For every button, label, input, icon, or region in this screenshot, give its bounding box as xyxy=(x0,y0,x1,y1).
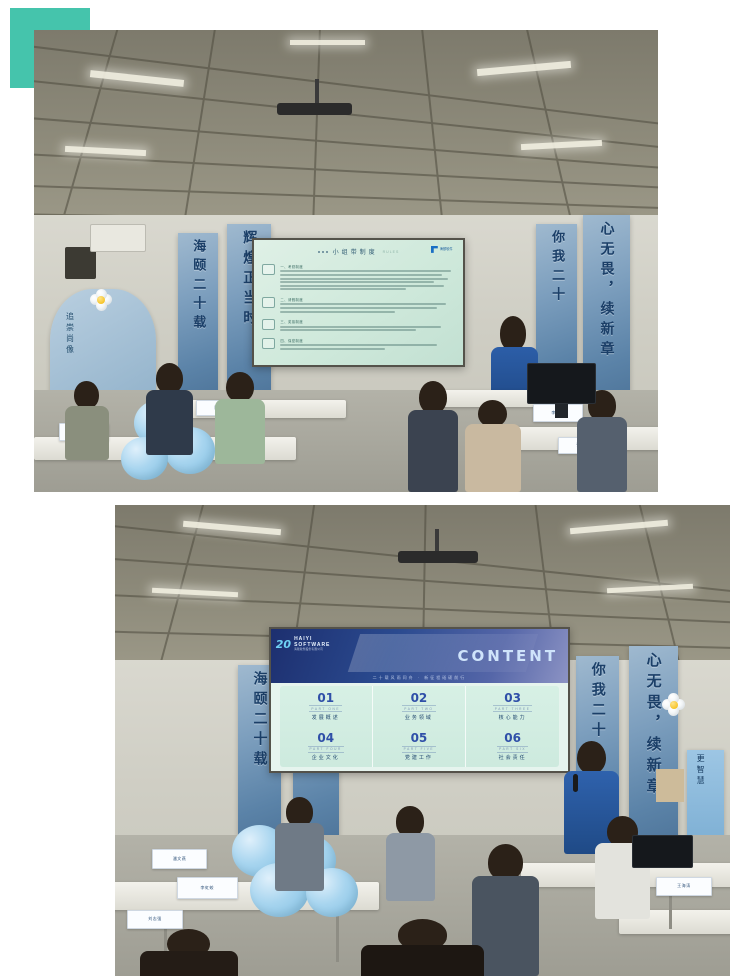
attendee xyxy=(65,381,109,460)
attendee-torso xyxy=(275,823,324,891)
photo-training-session-bottom: 海颐二十载 辉煌正当时 你我二十 心无畏，续新章 更智慧 20 xyxy=(115,505,730,976)
agenda-number: 03 xyxy=(504,692,521,704)
agenda-part-label: PART ONE xyxy=(309,705,342,712)
projector xyxy=(398,551,478,563)
attendee-torso xyxy=(215,399,265,465)
document-icon xyxy=(262,264,275,275)
projection-screen: 20 HAIYI SOFTWARE 海颐软件股份有限公司 CONTENT 二十载… xyxy=(269,627,570,773)
attendee xyxy=(146,363,193,455)
attendee xyxy=(275,797,324,891)
agenda-label: 核心能力 xyxy=(499,714,527,721)
projector xyxy=(277,103,352,115)
slide-content-agenda: 20 HAIYI SOFTWARE 海颐软件股份有限公司 CONTENT 二十载… xyxy=(271,629,568,771)
desk-leg xyxy=(336,910,339,962)
banner-text: 你我二十 xyxy=(550,230,563,306)
slide-block-lines: 三、奖惩制度 xyxy=(280,319,454,333)
agenda-number: 01 xyxy=(317,692,334,704)
agenda-label: 党建工作 xyxy=(405,754,433,761)
slide-block-lines: 二、请假制度 xyxy=(280,297,454,314)
attendee-torso xyxy=(65,406,109,459)
block-heading: 一、考勤制度 xyxy=(280,264,454,269)
banner-text: 你我二十 xyxy=(591,662,605,742)
agenda-label: 社会责任 xyxy=(499,754,527,761)
attendee-torso xyxy=(386,833,435,901)
air-conditioner xyxy=(90,224,146,252)
banner-text: 海颐二十载 xyxy=(191,239,204,334)
company-logo: 20 HAIYI SOFTWARE 海颐软件股份有限公司 xyxy=(276,636,331,651)
projector-mount xyxy=(315,79,319,103)
dots-decoration xyxy=(318,251,328,253)
attendee xyxy=(577,390,627,492)
agenda-number: 04 xyxy=(317,732,334,744)
wall-panel xyxy=(656,769,684,802)
slide-block: 一、考勤制度 xyxy=(262,264,454,292)
agenda-item: 05 PART FIVE 党建工作 xyxy=(373,727,466,767)
slide-block-lines: 一、考勤制度 xyxy=(280,264,454,292)
agenda-grid: 01 PART ONE 发展概述 02 PART TWO 业务领域 03 PAR… xyxy=(280,686,560,767)
agenda-part-label: PART FOUR xyxy=(308,746,344,753)
monitor-stand xyxy=(555,404,567,418)
agenda-item: 06 PART SIX 社会责任 xyxy=(466,727,559,767)
slide-block: 二、请假制度 xyxy=(262,297,454,314)
attendee-torso xyxy=(146,390,193,455)
attendee-torso xyxy=(140,951,238,976)
slide-logo: 海颐软件 xyxy=(431,246,453,253)
anniversary-20-icon: 20 xyxy=(276,639,291,650)
daisy-balloon xyxy=(662,693,686,717)
banner-text: 海颐二十载 xyxy=(253,671,267,771)
slide-title: 小组带制度 xyxy=(333,247,378,256)
photo-training-session-top: 海颐二十载 辉煌正当时 你我二十 心无畏，续新章 追崇尚像 小组带制度 RULE… xyxy=(34,30,658,492)
agenda-part-label: PART FIVE xyxy=(402,746,437,753)
daisy-balloon xyxy=(90,289,112,311)
agenda-label: 发展概述 xyxy=(312,714,340,721)
room-scene: 海颐二十载 辉煌正当时 你我二十 心无畏，续新章 更智慧 20 xyxy=(115,505,730,976)
agenda-item: 01 PART ONE 发展概述 xyxy=(280,686,373,726)
nameplate-text: 王海涛 xyxy=(677,883,691,889)
slide-document: 小组带制度 RULES 海颐软件 一、考勤制度 xyxy=(254,240,462,365)
agenda-item: 04 PART FOUR 企业文化 xyxy=(280,727,373,767)
agenda-part-label: PART TWO xyxy=(402,705,435,712)
slogan-text: 追崇尚像 xyxy=(50,289,76,356)
wall-speaker xyxy=(65,247,96,279)
attendee-torso xyxy=(577,417,627,492)
attendee xyxy=(140,929,238,976)
document-icon xyxy=(262,297,275,308)
agenda-number: 06 xyxy=(504,732,521,744)
projection-screen: 小组带制度 RULES 海颐软件 一、考勤制度 xyxy=(252,238,464,367)
attendee xyxy=(215,372,265,464)
nameplate-text: 潘文燕 xyxy=(173,856,187,862)
company-logo-text: 海颐软件 xyxy=(440,248,453,252)
agenda-label: 业务领域 xyxy=(405,714,433,721)
attendee xyxy=(595,816,650,920)
attendee xyxy=(361,919,484,976)
company-logo-icon xyxy=(431,246,438,253)
attendee-head xyxy=(226,372,254,402)
monitor xyxy=(527,363,596,405)
block-heading: 三、奖惩制度 xyxy=(280,319,454,324)
banner-text: 心无畏，续新章 xyxy=(600,221,614,361)
document-icon xyxy=(262,319,275,330)
side-banner-text: 更智慧 xyxy=(687,750,706,787)
attendee-torso xyxy=(408,410,458,492)
agenda-number: 05 xyxy=(411,732,428,744)
agenda-item: 02 PART TWO 业务领域 xyxy=(373,686,466,726)
microphone xyxy=(573,774,579,792)
agenda-number: 02 xyxy=(411,692,428,704)
slide-block: 四、保密制度 xyxy=(262,338,454,352)
slide-title-sub: RULES xyxy=(383,250,400,254)
slide-subline: 二十载风雨同舟 · 新征程砥砺前行 xyxy=(271,675,568,681)
presenter-head xyxy=(577,741,606,775)
slide-heading-content: CONTENT xyxy=(458,647,559,665)
company-name-sub: 海颐软件股份有限公司 xyxy=(294,648,330,651)
agenda-part-label: PART THREE xyxy=(493,705,533,712)
slide-block: 三、奖惩制度 xyxy=(262,319,454,333)
nameplate-text: 李虹蛟 xyxy=(201,885,215,891)
attendee xyxy=(386,806,435,900)
attendee xyxy=(408,381,458,492)
block-heading: 四、保密制度 xyxy=(280,338,454,343)
block-heading: 二、请假制度 xyxy=(280,297,454,302)
nameplate: 李虹蛟 xyxy=(177,877,239,899)
nameplate: 刘志强 xyxy=(127,910,182,929)
projector-mount xyxy=(435,529,439,553)
attendee-head xyxy=(74,381,99,409)
slide-block-lines: 四、保密制度 xyxy=(280,338,454,352)
nameplate: 潘文燕 xyxy=(152,849,207,869)
document-icon xyxy=(262,338,275,349)
nameplate-text: 刘志强 xyxy=(148,916,162,922)
nameplate: 王海涛 xyxy=(656,877,711,896)
presenter-head xyxy=(500,316,526,351)
slide-header-band: 20 HAIYI SOFTWARE 海颐软件股份有限公司 CONTENT 二十载… xyxy=(271,629,568,683)
agenda-label: 企业文化 xyxy=(312,754,340,761)
ceiling xyxy=(34,30,658,233)
attendee-torso xyxy=(361,945,484,976)
attendee xyxy=(465,400,521,492)
agenda-part-label: PART SIX xyxy=(497,746,528,753)
attendee-head xyxy=(156,363,183,394)
ceiling-light xyxy=(290,40,365,45)
company-logo-text: HAIYI SOFTWARE 海颐软件股份有限公司 xyxy=(294,636,330,651)
attendee-torso xyxy=(465,424,521,492)
monitor xyxy=(632,835,694,868)
agenda-item: 03 PART THREE 核心能力 xyxy=(466,686,559,726)
room-scene: 海颐二十载 辉煌正当时 你我二十 心无畏，续新章 追崇尚像 小组带制度 RULE… xyxy=(34,30,658,492)
slide-header: 小组带制度 RULES 海颐软件 xyxy=(262,245,454,259)
